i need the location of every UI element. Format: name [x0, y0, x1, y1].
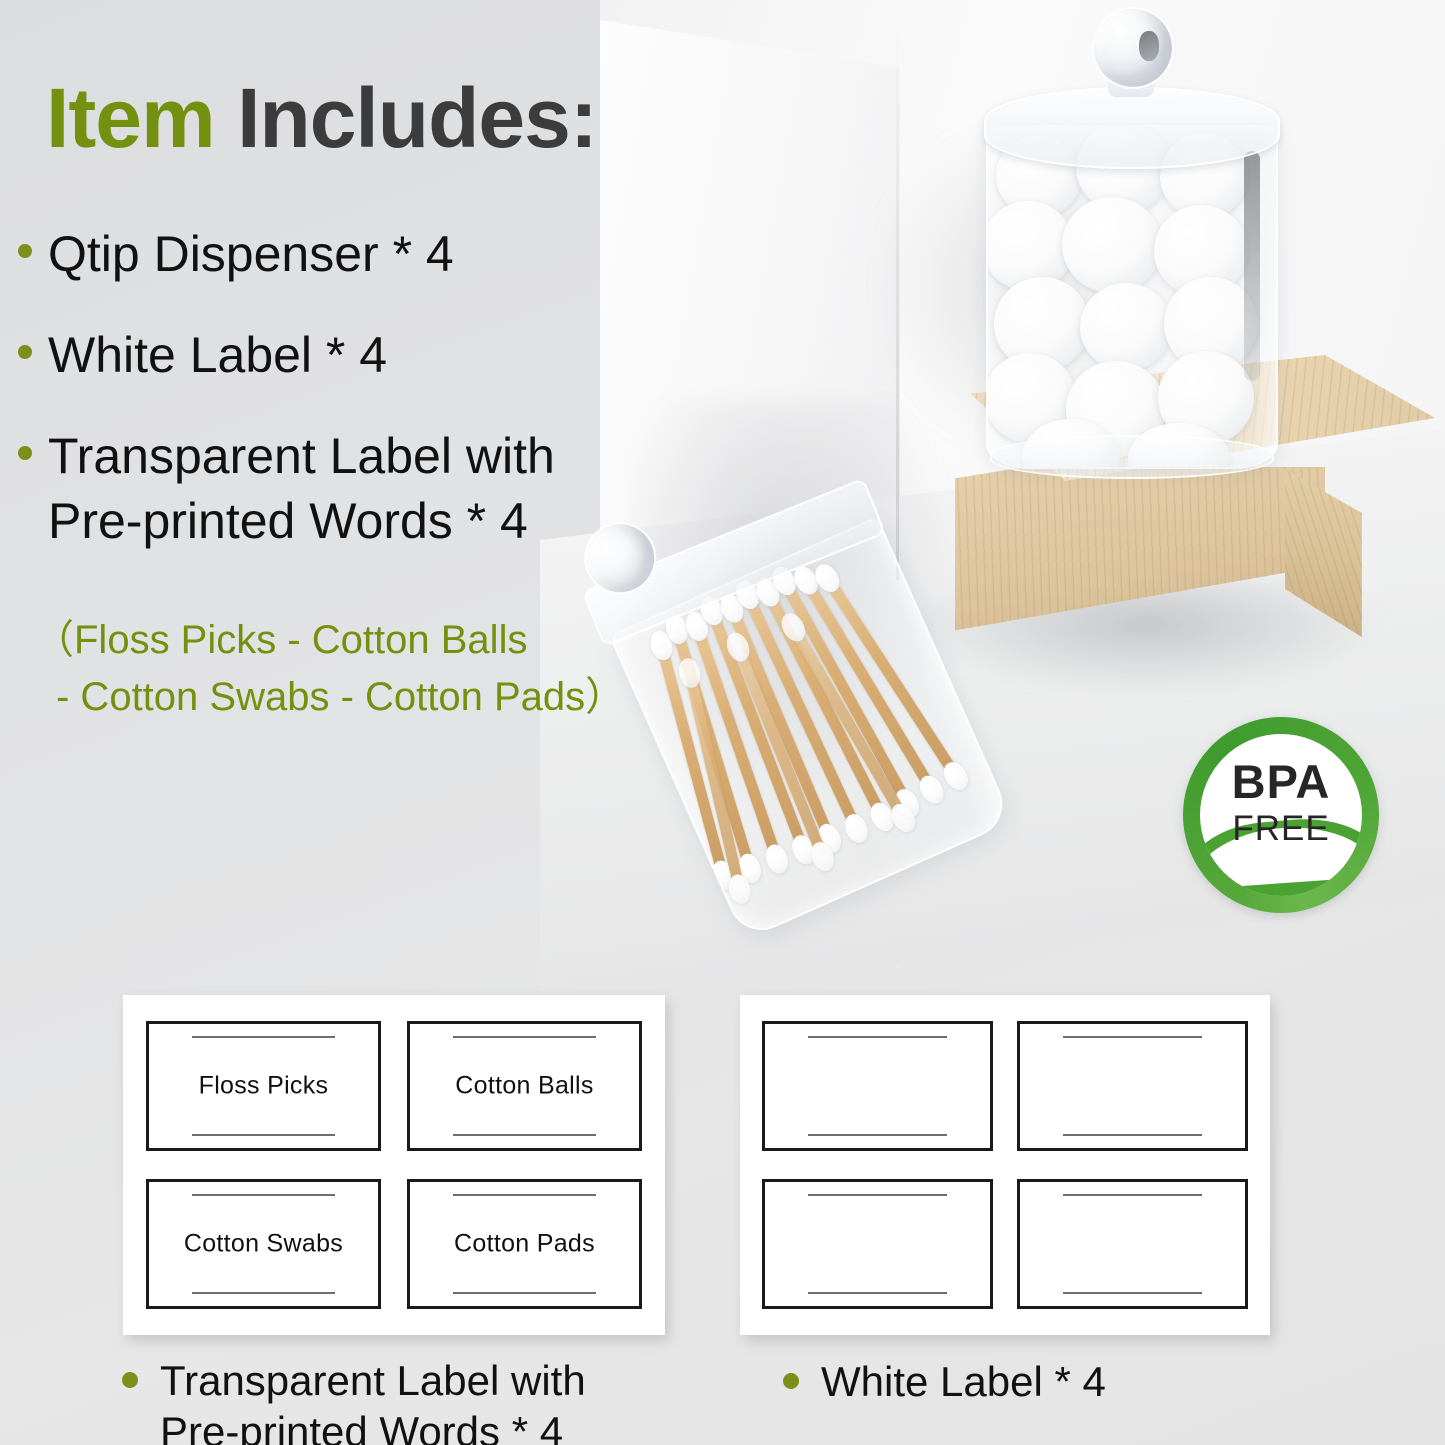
cotton-ball-jar-lid — [984, 87, 1280, 169]
bullet-dot-icon — [18, 244, 32, 258]
label-card — [1017, 1179, 1247, 1308]
page-title-dark: Includes: — [237, 71, 597, 165]
caption-text: White Label * 4 — [821, 1356, 1106, 1407]
caption-text: Transparent Label with Pre-printed Words… — [160, 1355, 586, 1445]
list-item: Transparent Label with Pre-printed Words… — [18, 424, 658, 554]
cotton-ball-jar-body — [986, 125, 1278, 469]
cotton-ball-jar-base — [990, 435, 1274, 479]
label-cell — [750, 1007, 1005, 1165]
cotton-ball — [1062, 197, 1162, 293]
page-title: Item Includes: — [46, 76, 597, 160]
list-item: Qtip Dispenser * 4 — [18, 222, 658, 287]
label-variants-line-1: （Floss Picks - Cotton Balls — [34, 612, 654, 669]
label-cell: Floss Picks — [133, 1007, 394, 1165]
label-card — [1017, 1021, 1247, 1150]
label-variants-line-2: - Cotton Swabs - Cotton Pads） — [34, 669, 654, 726]
bullet-dot-icon — [18, 446, 32, 460]
label-variants-note: （Floss Picks - Cotton Balls - Cotton Swa… — [34, 612, 654, 726]
label-rule-bottom — [808, 1134, 947, 1136]
jar-highlight — [1244, 151, 1260, 381]
cotton-balls-group — [988, 127, 1276, 467]
list-item-label: Qtip Dispenser * 4 — [48, 222, 454, 287]
label-card-text: Cotton Pads — [410, 1229, 640, 1258]
list-item-label: Transparent Label with Pre-printed Words… — [48, 424, 555, 554]
label-rule-top — [1063, 1194, 1202, 1196]
badge-line-1: BPA — [1200, 758, 1362, 805]
list-item: White Label * 4 — [18, 323, 658, 388]
label-rule-bottom — [1063, 1292, 1202, 1294]
feature-bullet-list: Qtip Dispenser * 4 White Label * 4 Trans… — [18, 222, 658, 590]
page-title-green: Item — [46, 71, 215, 165]
label-card-text: Floss Picks — [149, 1071, 379, 1100]
bpa-free-badge: BPA FREE — [1183, 717, 1379, 913]
label-card — [762, 1021, 992, 1150]
label-card: Cotton Pads — [407, 1179, 643, 1308]
white-sheet-caption: White Label * 4 — [783, 1356, 1253, 1407]
badge-text: BPA FREE — [1200, 758, 1362, 846]
label-cell: Cotton Swabs — [133, 1165, 394, 1323]
bullet-dot-icon — [122, 1372, 138, 1388]
label-card: Cotton Swabs — [146, 1179, 382, 1308]
list-item-label: White Label * 4 — [48, 323, 387, 388]
infographic-canvas: Item Includes: Qtip Dispenser * 4 White … — [0, 0, 1445, 1445]
label-card: Cotton Balls — [407, 1021, 643, 1150]
label-rule-bottom — [808, 1292, 947, 1294]
label-card-text: Cotton Swabs — [149, 1229, 379, 1258]
label-rule-top — [192, 1036, 334, 1038]
badge-line-2: FREE — [1200, 811, 1362, 846]
label-cell: Cotton Balls — [394, 1007, 655, 1165]
label-rule-top — [453, 1194, 595, 1196]
label-card-text: Cotton Balls — [410, 1071, 640, 1100]
label-rule-top — [192, 1194, 334, 1196]
label-rule-bottom — [453, 1292, 595, 1294]
label-rule-bottom — [1063, 1134, 1202, 1136]
cotton-ball-jar — [972, 5, 1287, 475]
label-rule-top — [808, 1036, 947, 1038]
label-rule-top — [453, 1036, 595, 1038]
transparent-sheet-caption: Transparent Label with Pre-printed Words… — [122, 1355, 682, 1445]
label-rule-bottom — [192, 1134, 334, 1136]
bullet-dot-icon — [783, 1373, 799, 1389]
transparent-label-sheet: Floss Picks Cotton Balls Cotton Swabs Co… — [123, 995, 665, 1335]
white-label-sheet — [740, 995, 1270, 1335]
badge-inner: BPA FREE — [1200, 734, 1362, 896]
label-cell — [1005, 1165, 1260, 1323]
label-card: Floss Picks — [146, 1021, 382, 1150]
bullet-dot-icon — [18, 345, 32, 359]
label-cell — [1005, 1007, 1260, 1165]
label-rule-bottom — [192, 1292, 334, 1294]
cotton-ball — [1080, 283, 1172, 371]
label-rule-top — [1063, 1036, 1202, 1038]
caption-line-1: White Label * 4 — [821, 1358, 1106, 1405]
caption-line-2: Pre-printed Words * 4 — [160, 1408, 563, 1445]
jar-knob-icon — [1092, 7, 1174, 89]
label-card — [762, 1179, 992, 1308]
label-cell: Cotton Pads — [394, 1165, 655, 1323]
label-cell — [750, 1165, 1005, 1323]
caption-line-1: Transparent Label with — [160, 1357, 586, 1404]
label-rule-bottom — [453, 1134, 595, 1136]
label-rule-top — [808, 1194, 947, 1196]
